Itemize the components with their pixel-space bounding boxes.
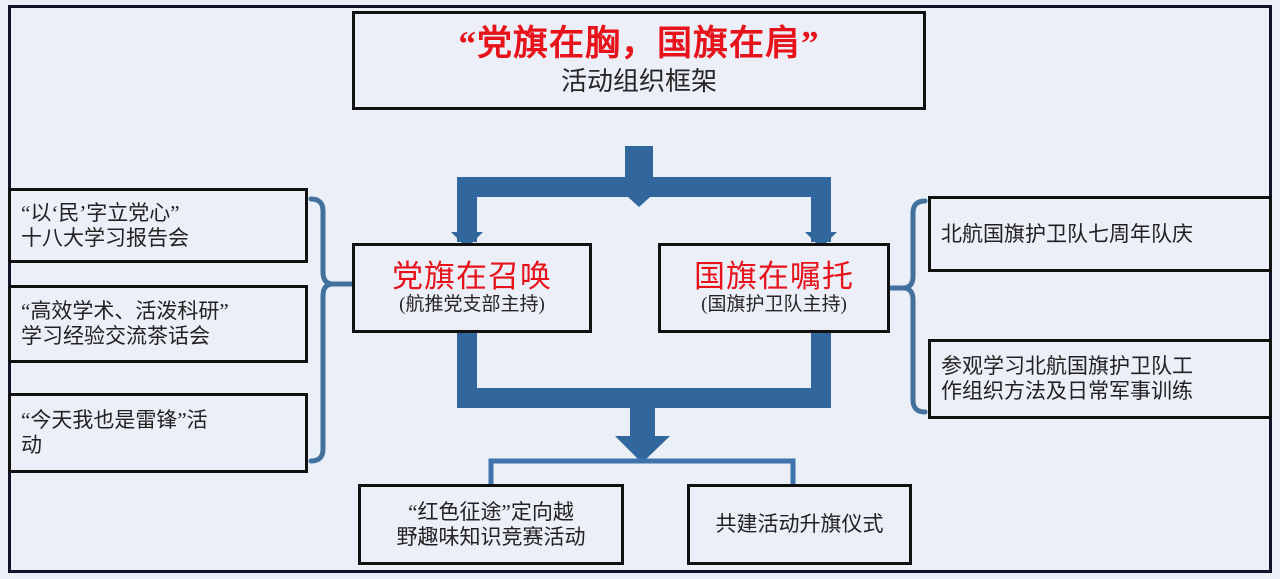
- pillar-right-note: (国旗护卫队主持): [701, 294, 847, 316]
- title-headline: “党旗在胸，国旗在肩”: [458, 24, 819, 63]
- merge-bracket-from-pillars: [457, 333, 831, 408]
- left-activity-box-2[interactable]: “高效学术、活泼科研” 学习经验交流茶话会: [8, 285, 308, 363]
- title-box: “党旗在胸，国旗在肩” 活动组织框架: [352, 11, 926, 110]
- arrow-title-to-split: [609, 146, 669, 207]
- pillar-left-head: 党旗在召唤: [392, 260, 552, 294]
- pillar-left-note: (航推党支部主持): [399, 294, 545, 316]
- bottom-activity-2-line-1: 共建活动升旗仪式: [716, 512, 884, 537]
- right-activity-2-line-1: 参观学习北航国旗护卫队工: [941, 354, 1259, 379]
- left-activity-3-line-1: “今天我也是雷锋”活: [21, 408, 295, 433]
- right-activity-2-line-2: 作组织方法及日常军事训练: [941, 379, 1259, 404]
- right-activity-1-line-1: 北航国旗护卫队七周年队庆: [941, 222, 1259, 247]
- left-group-bracket: [311, 199, 352, 461]
- left-activity-3-line-2: 动: [21, 433, 295, 458]
- bottom-activity-1-line-2: 野趣味知识竞赛活动: [397, 525, 586, 550]
- arrow-merge-to-bottom: [615, 404, 670, 463]
- left-activity-1-line-2: 十八大学习报告会: [21, 226, 295, 251]
- bottom-activity-1-line-1: “红色征途”定向越: [408, 500, 574, 525]
- right-activity-box-2[interactable]: 参观学习北航国旗护卫队工 作组织方法及日常军事训练: [928, 339, 1272, 419]
- pillar-right-head: 国旗在嘱托: [694, 260, 854, 294]
- left-activity-2-line-2: 学习经验交流茶话会: [21, 324, 295, 349]
- left-activity-box-1[interactable]: “以‘民’字立党心” 十八大学习报告会: [8, 188, 308, 263]
- right-group-bracket: [888, 201, 925, 412]
- split-bar-to-pillars: [451, 177, 837, 248]
- bottom-activity-box-1[interactable]: “红色征途”定向越 野趣味知识竞赛活动: [358, 484, 624, 565]
- bottom-activity-box-2[interactable]: 共建活动升旗仪式: [687, 484, 912, 565]
- right-activity-box-1[interactable]: 北航国旗护卫队七周年队庆: [928, 196, 1272, 272]
- left-activity-box-3[interactable]: “今天我也是雷锋”活 动: [8, 393, 308, 473]
- left-activity-1-line-1: “以‘民’字立党心”: [21, 201, 295, 226]
- diagram-canvas: “党旗在胸，国旗在肩” 活动组织框架 党旗在召唤 (航推党支部主持) 国旗在嘱托…: [0, 0, 1280, 579]
- pillar-box-party-flag[interactable]: 党旗在召唤 (航推党支部主持): [352, 243, 592, 333]
- title-subtitle: 活动组织框架: [561, 66, 717, 97]
- pillar-box-national-flag[interactable]: 国旗在嘱托 (国旗护卫队主持): [658, 243, 890, 333]
- left-activity-2-line-1: “高效学术、活泼科研”: [21, 299, 295, 324]
- bottom-split-bracket: [491, 461, 793, 485]
